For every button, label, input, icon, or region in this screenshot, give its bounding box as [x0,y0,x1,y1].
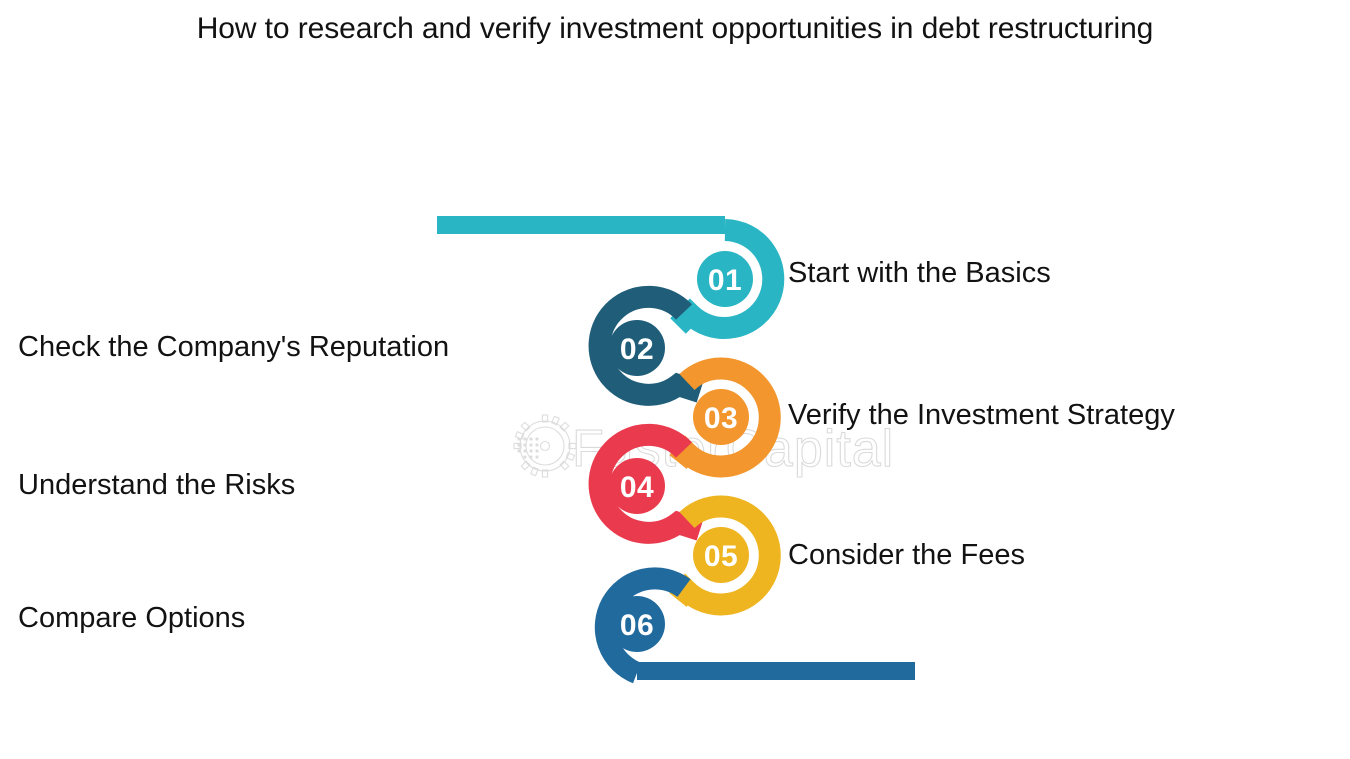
bottom-connector-bar [637,662,915,680]
step-label-01: Start with the Basics [788,259,1051,288]
step-label-05: Consider the Fees [788,541,1025,570]
step-number-03: 03 [704,402,738,435]
step-node-05[interactable]: 05 [678,506,770,604]
step-number-05: 05 [704,540,738,573]
top-connector-bar [437,216,725,234]
infographic-page: How to research and verify investment op… [0,0,1350,759]
step-label-06: Compare Options [18,604,245,633]
step-label-03: Verify the Investment Strategy [788,401,1175,430]
step-node-01[interactable]: 01 [678,230,773,328]
step-number-04: 04 [620,471,654,504]
step-node-06[interactable]: 06 [606,578,684,673]
step-number-06: 06 [620,609,654,642]
step-label-02: Check the Company's Reputation [18,333,449,362]
process-diagram: FasterCapital 01 02 03 [0,0,1350,759]
step-number-02: 02 [620,333,654,366]
step-label-04: Understand the Risks [18,471,295,500]
gear-icon [514,415,576,477]
step-number-01: 01 [708,264,742,297]
